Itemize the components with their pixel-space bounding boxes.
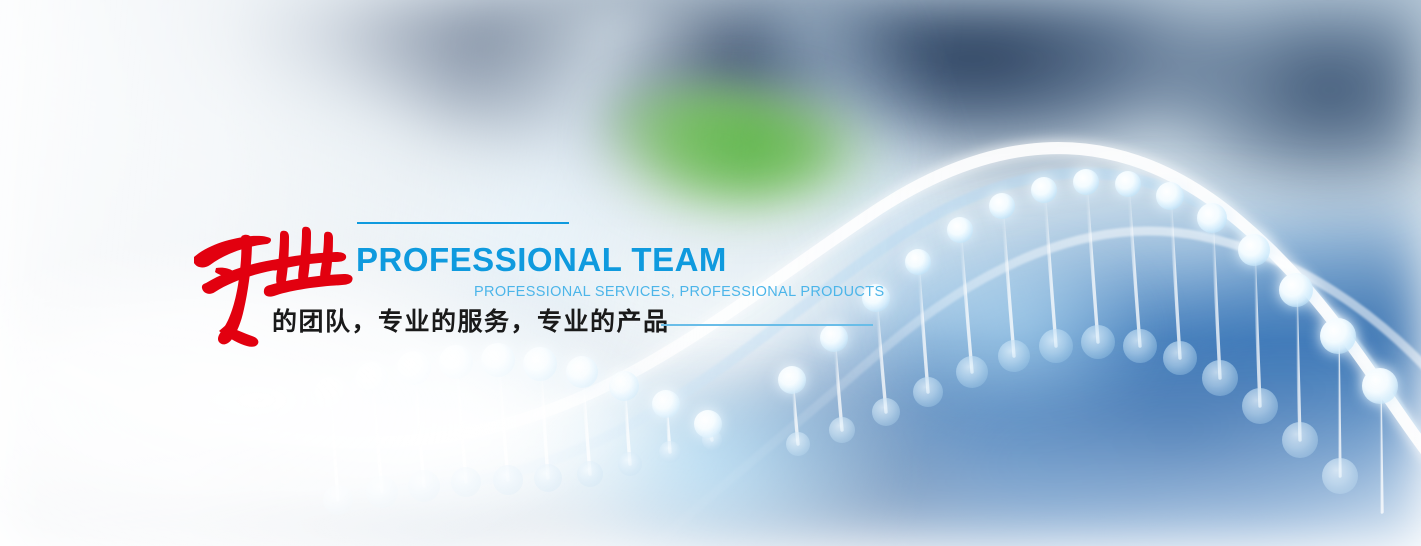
page-title: PROFESSIONAL TEAM [356, 243, 727, 276]
subtitle: PROFESSIONAL SERVICES, PROFESSIONAL PROD… [474, 285, 884, 300]
hero-banner: PROFESSIONAL TEAM PROFESSIONAL SERVICES,… [0, 0, 1421, 546]
brush-calligraphy-zhuanye-icon [186, 205, 354, 353]
headline-block: PROFESSIONAL TEAM PROFESSIONAL SERVICES,… [0, 0, 1421, 546]
bottom-accent-rule [661, 324, 873, 326]
top-accent-rule [357, 222, 569, 224]
